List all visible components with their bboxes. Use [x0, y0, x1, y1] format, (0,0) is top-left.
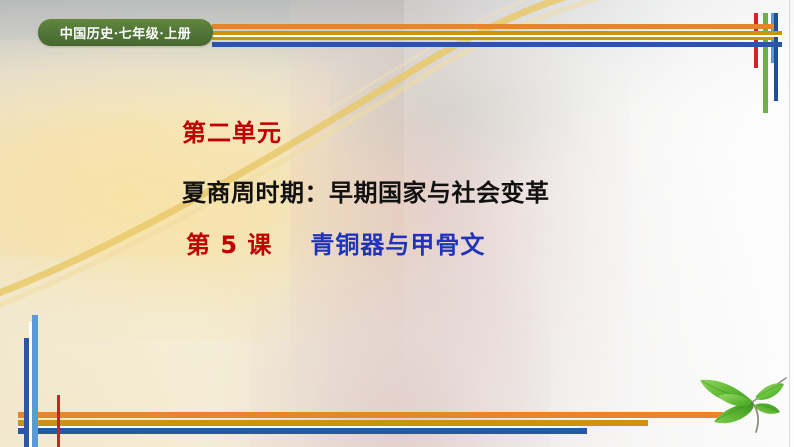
decor-top-stripe-orange: [212, 24, 774, 29]
lesson-number: 第 5 课: [186, 230, 272, 260]
decor-bottom-stripe-orange: [18, 412, 723, 418]
decor-bottom-vertical-white-front: [29, 412, 32, 447]
decor-bottom-vertical-dark-blue-front: [24, 412, 29, 447]
decor-bottom-vertical-red-front: [57, 412, 60, 447]
unit-heading: 第二单元: [0, 118, 794, 148]
lesson-title: 青铜器与甲骨文: [310, 230, 485, 260]
title-block: 第二单元 夏商周时期：早期国家与社会变革 第 5 课 青铜器与甲骨文: [0, 118, 794, 260]
lesson-heading: 第 5 课 青铜器与甲骨文: [0, 230, 794, 260]
presentation-slide: 中国历史·七年级·上册 第二单元 夏商周时期：早期国家与社会变革 第 5 课 青…: [0, 0, 794, 447]
decor-top-stripe-blue: [212, 42, 782, 47]
decor-bottom-vertical-light-blue-front: [32, 412, 38, 447]
unit-theme-heading: 夏商周时期：早期国家与社会变革: [0, 178, 794, 208]
decor-top-stripe-gold-2: [212, 37, 774, 40]
textbook-badge-label: 中国历史·七年级·上册: [60, 23, 192, 42]
decor-bottom-stripe-blue: [18, 428, 587, 434]
decor-top-vertical-dark-blue-front: [774, 47, 778, 101]
textbook-badge: 中国历史·七年级·上册: [38, 19, 213, 46]
decor-top-vertical-white-front: [768, 47, 771, 91]
decor-top-vertical-red-front: [754, 47, 758, 68]
